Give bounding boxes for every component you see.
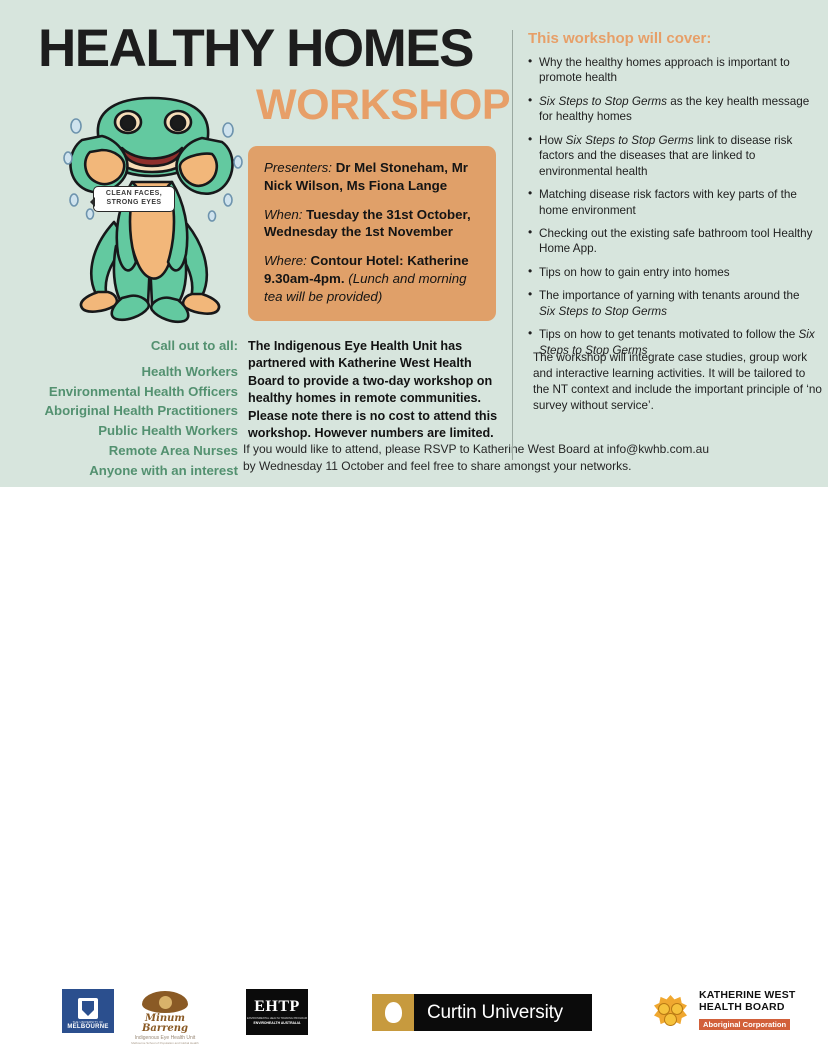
bullet-text: Why the healthy homes approach is import… — [539, 56, 790, 84]
where-label: Where: — [264, 253, 307, 268]
melbourne-crest-icon — [78, 998, 98, 1019]
melbourne-logo-line2: MELBOURNE — [67, 1024, 108, 1030]
bullet-text: Tips on how to get tenants motivated to … — [539, 328, 798, 341]
audience-list: Call out to all: Health Workers Environm… — [16, 336, 238, 481]
coverage-bullet-item: The importance of yarning with tenants a… — [528, 288, 818, 319]
bullet-text: Tips on how to gain entry into homes — [539, 266, 730, 279]
when-line: When: Tuesday the 31st October, Wednesda… — [264, 206, 480, 242]
coverage-heading: This workshop will cover: — [528, 30, 711, 47]
katherine-west-health-board-logo: KATHERINE WEST HEALTH BOARD Aboriginal C… — [648, 987, 800, 1035]
coverage-bullet-item: Why the healthy homes approach is import… — [528, 55, 818, 86]
audience-item: Public Health Workers — [16, 421, 238, 441]
minum-barreng-name: Minum Barreng — [122, 1014, 208, 1034]
curtin-university-logo: Curtin University — [372, 994, 592, 1031]
audience-item: Remote Area Nurses — [16, 441, 238, 461]
kw-badge: Aboriginal Corporation — [699, 1019, 790, 1030]
eye-icon — [142, 991, 188, 1013]
ehtp-acronym: EHTP — [254, 999, 300, 1015]
bullet-text: The importance of yarning with tenants a… — [539, 289, 800, 302]
bullet-emphasis: Six Steps to Stop Germs — [539, 95, 667, 108]
coverage-bullet-list: Why the healthy homes approach is import… — [528, 55, 818, 366]
mascot-speech-bubble: CLEAN FACES, STRONG EYES — [93, 186, 175, 212]
bullet-text: Matching disease risk factors with key p… — [539, 188, 797, 216]
audience-item: Aboriginal Health Practitioners — [16, 401, 238, 421]
bullet-emphasis: Six Steps to Stop Germs — [566, 134, 694, 147]
coverage-bullet-item: Six Steps to Stop Germs as the key healt… — [528, 94, 818, 125]
page-subtitle: WORKSHOP — [256, 84, 510, 127]
audience-item: Environmental Health Officers — [16, 382, 238, 402]
sun-emblem-icon — [648, 989, 694, 1033]
kw-wordmark: KATHERINE WEST HEALTH BOARD Aboriginal C… — [699, 990, 796, 1032]
audience-item: Health Workers — [16, 362, 238, 382]
coverage-bullet-item: Checking out the existing safe bathroom … — [528, 226, 818, 257]
curtin-mark-icon — [372, 994, 414, 1031]
minum-barreng-logo: Minum Barreng Indigenous Eye Health Unit… — [122, 991, 208, 1033]
audience-lead: Call out to all: — [16, 336, 238, 356]
ehtp-logo: EHTP ENVIRONMENTAL HEALTH TRAINING PROGR… — [246, 989, 308, 1035]
coverage-paragraph: The workshop will integrate case studies… — [533, 350, 823, 414]
partnership-blurb: The Indigenous Eye Health Unit has partn… — [248, 338, 498, 442]
poster: HEALTHY HOMES WORKSHOP — [0, 0, 828, 571]
coverage-bullet-item: How Six Steps to Stop Germs link to dise… — [528, 133, 818, 179]
kw-line2: HEALTH BOARD — [699, 1002, 796, 1014]
column-divider — [512, 30, 513, 460]
curtin-name: Curtin University — [427, 1002, 563, 1024]
ehtp-sub2: ENVIROHEALTH AUSTRALIA — [254, 1021, 301, 1025]
when-label: When: — [264, 207, 302, 222]
event-details-box: Presenters: Dr Mel Stoneham, Mr Nick Wil… — [248, 146, 496, 321]
presenters-label: Presenters: — [264, 160, 332, 175]
kw-line1: KATHERINE WEST — [699, 990, 796, 1002]
bullet-text: Checking out the existing safe bathroom … — [539, 227, 813, 255]
coverage-bullet-item: Matching disease risk factors with key p… — [528, 187, 818, 218]
coverage-bullet-item: Tips on how to gain entry into homes — [528, 265, 818, 280]
rsvp-text: If you would like to attend, please RSVP… — [243, 441, 713, 475]
footer-logo-bar: THE UNIVERSITY OF MELBOURNE Minum Barren… — [0, 487, 828, 571]
bullet-emphasis: Six Steps to Stop Germs — [539, 305, 667, 318]
university-of-melbourne-logo: THE UNIVERSITY OF MELBOURNE — [62, 989, 114, 1033]
bullet-text: How — [539, 134, 566, 147]
page-title: HEALTHY HOMES — [38, 22, 473, 75]
presenters-line: Presenters: Dr Mel Stoneham, Mr Nick Wil… — [264, 159, 480, 195]
ehtp-sub: ENVIRONMENTAL HEALTH TRAINING PROGRAM — [247, 1017, 307, 1020]
minum-barreng-sub2: Melbourne School of Population and Globa… — [122, 1041, 208, 1045]
where-line: Where: Contour Hotel: Katherine 9.30am-4… — [264, 252, 480, 305]
audience-item: Anyone with an interest — [16, 461, 238, 481]
